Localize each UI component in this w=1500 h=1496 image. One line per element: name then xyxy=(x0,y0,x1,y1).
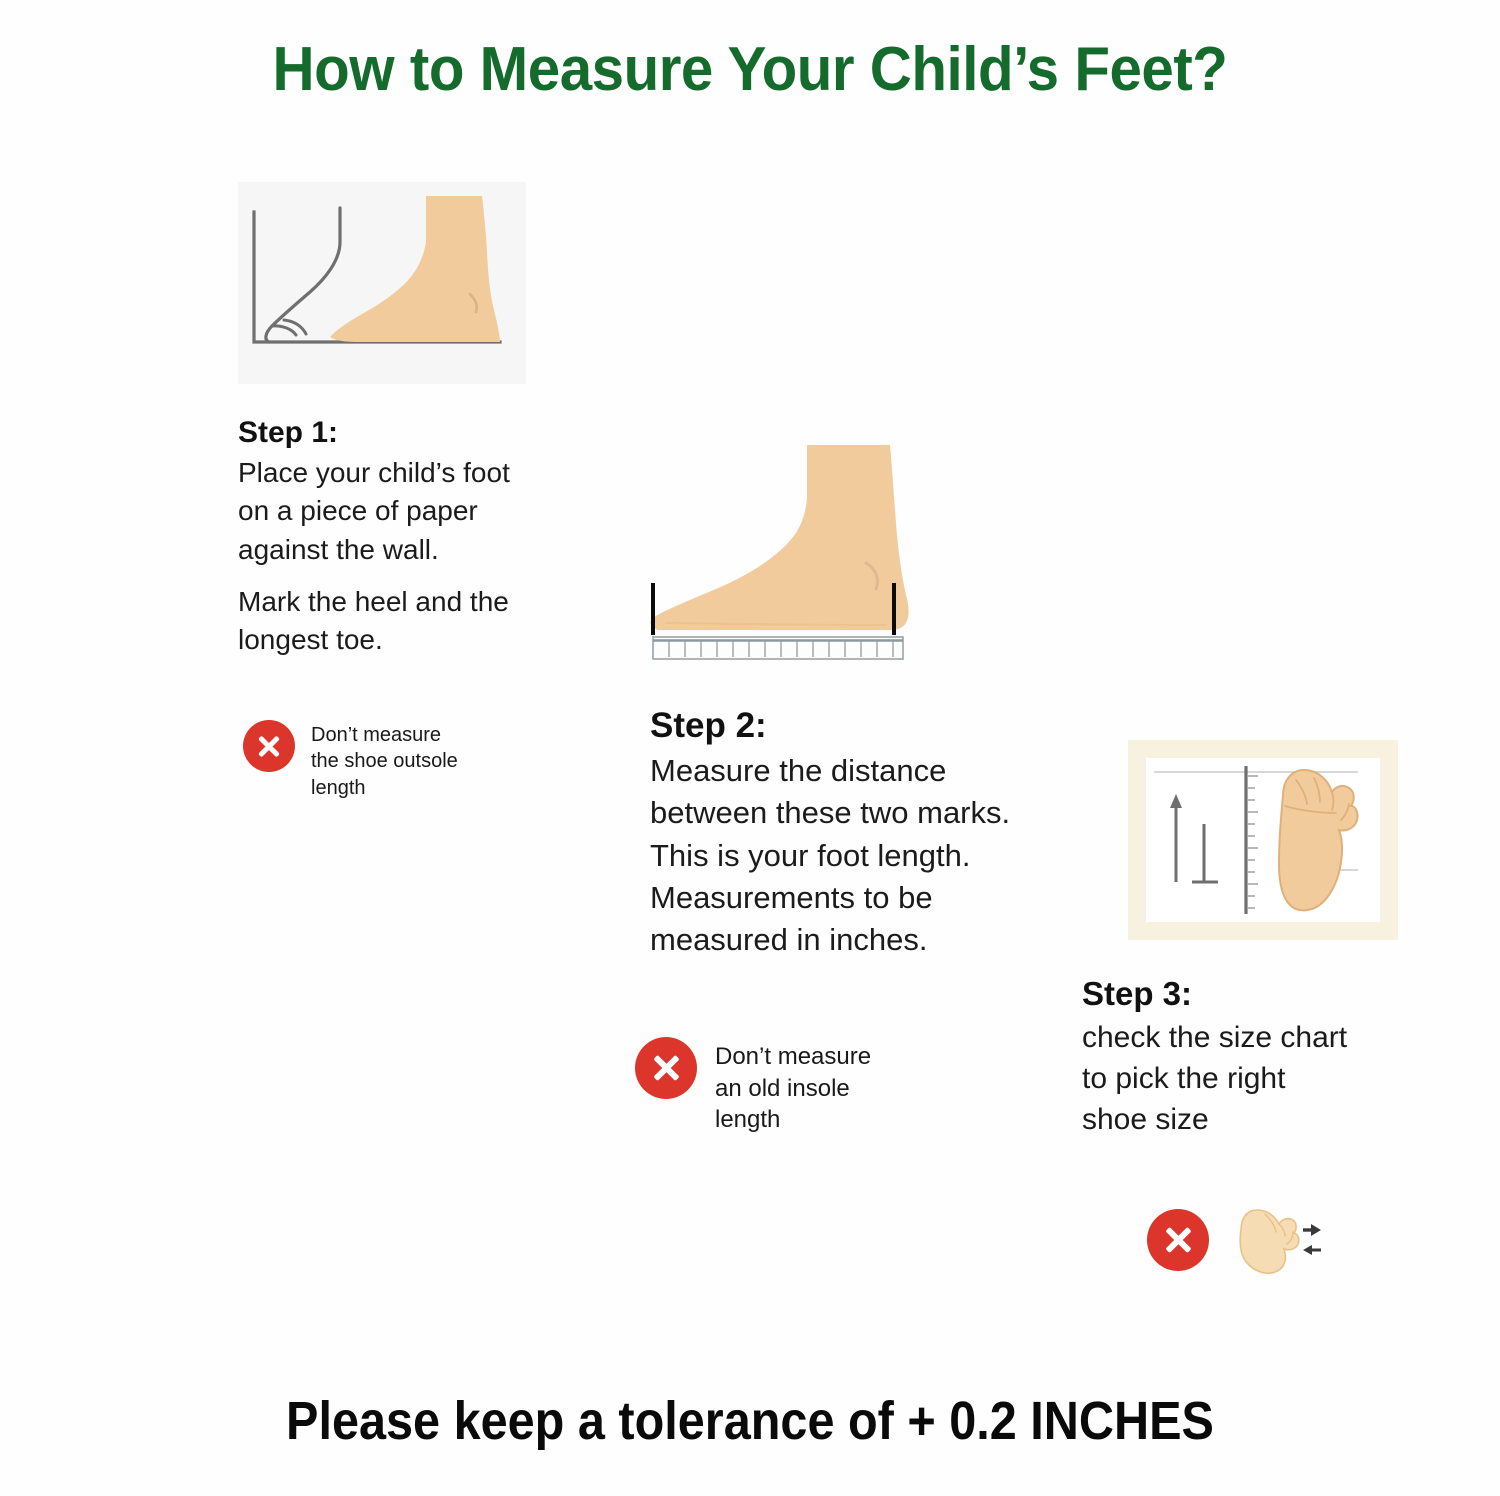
page-title: How to Measure Your Child’s Feet? xyxy=(45,34,1455,105)
warning-badge-compressed-foot xyxy=(1147,1204,1301,1276)
warning-1-label: Don’t measure the shoe outsole length xyxy=(311,722,458,801)
red-x-circle-icon xyxy=(243,720,295,772)
step-1-illustration xyxy=(238,182,526,384)
infographic-canvas: How to Measure Your Child’s Feet? Step 1… xyxy=(0,0,1500,1496)
measuring-chart-card xyxy=(1146,758,1380,922)
warning-2-label: Don’t measure an old insole length xyxy=(715,1041,871,1136)
step-1-body-first: Place your child’s foot on a piece of pa… xyxy=(238,454,568,568)
foot-sole-on-chart-graphic xyxy=(1146,758,1380,922)
step-2-text-block: Step 2: Measure the distance between the… xyxy=(650,705,1080,961)
step-3-text-block: Step 3: check the size chart to pick the… xyxy=(1082,975,1422,1140)
tolerance-note: Please keep a tolerance of + 0.2 INCHES xyxy=(75,1390,1425,1452)
step-2-illustration xyxy=(640,425,940,665)
red-x-circle-icon xyxy=(1147,1209,1209,1271)
foot-side-against-wall-graphic xyxy=(238,182,526,384)
step-2-body: Measure the distance between these two m… xyxy=(650,750,1080,961)
red-x-circle-icon xyxy=(635,1037,697,1099)
step-1-body-second: Mark the heel and the longest toe. xyxy=(238,583,568,659)
warning-badge-old-insole: Don’t measure an old insole length xyxy=(635,1037,871,1136)
warning-badge-shoe-outsole: Don’t measure the shoe outsole length xyxy=(243,720,458,801)
step-1-text-block: Step 1: Place your child’s foot on a pie… xyxy=(238,415,568,659)
step-1-heading: Step 1: xyxy=(238,415,568,450)
foot-sole-with-arrows-graphic xyxy=(1231,1204,1323,1276)
step-2-heading: Step 2: xyxy=(650,705,1080,746)
step-3-illustration xyxy=(1128,740,1398,940)
step-3-body: check the size chart to pick the right s… xyxy=(1082,1018,1422,1140)
foot-compressed-arrows-icon xyxy=(1231,1204,1301,1276)
foot-side-with-ruler-graphic xyxy=(640,425,940,665)
step-3-heading: Step 3: xyxy=(1082,975,1422,1014)
